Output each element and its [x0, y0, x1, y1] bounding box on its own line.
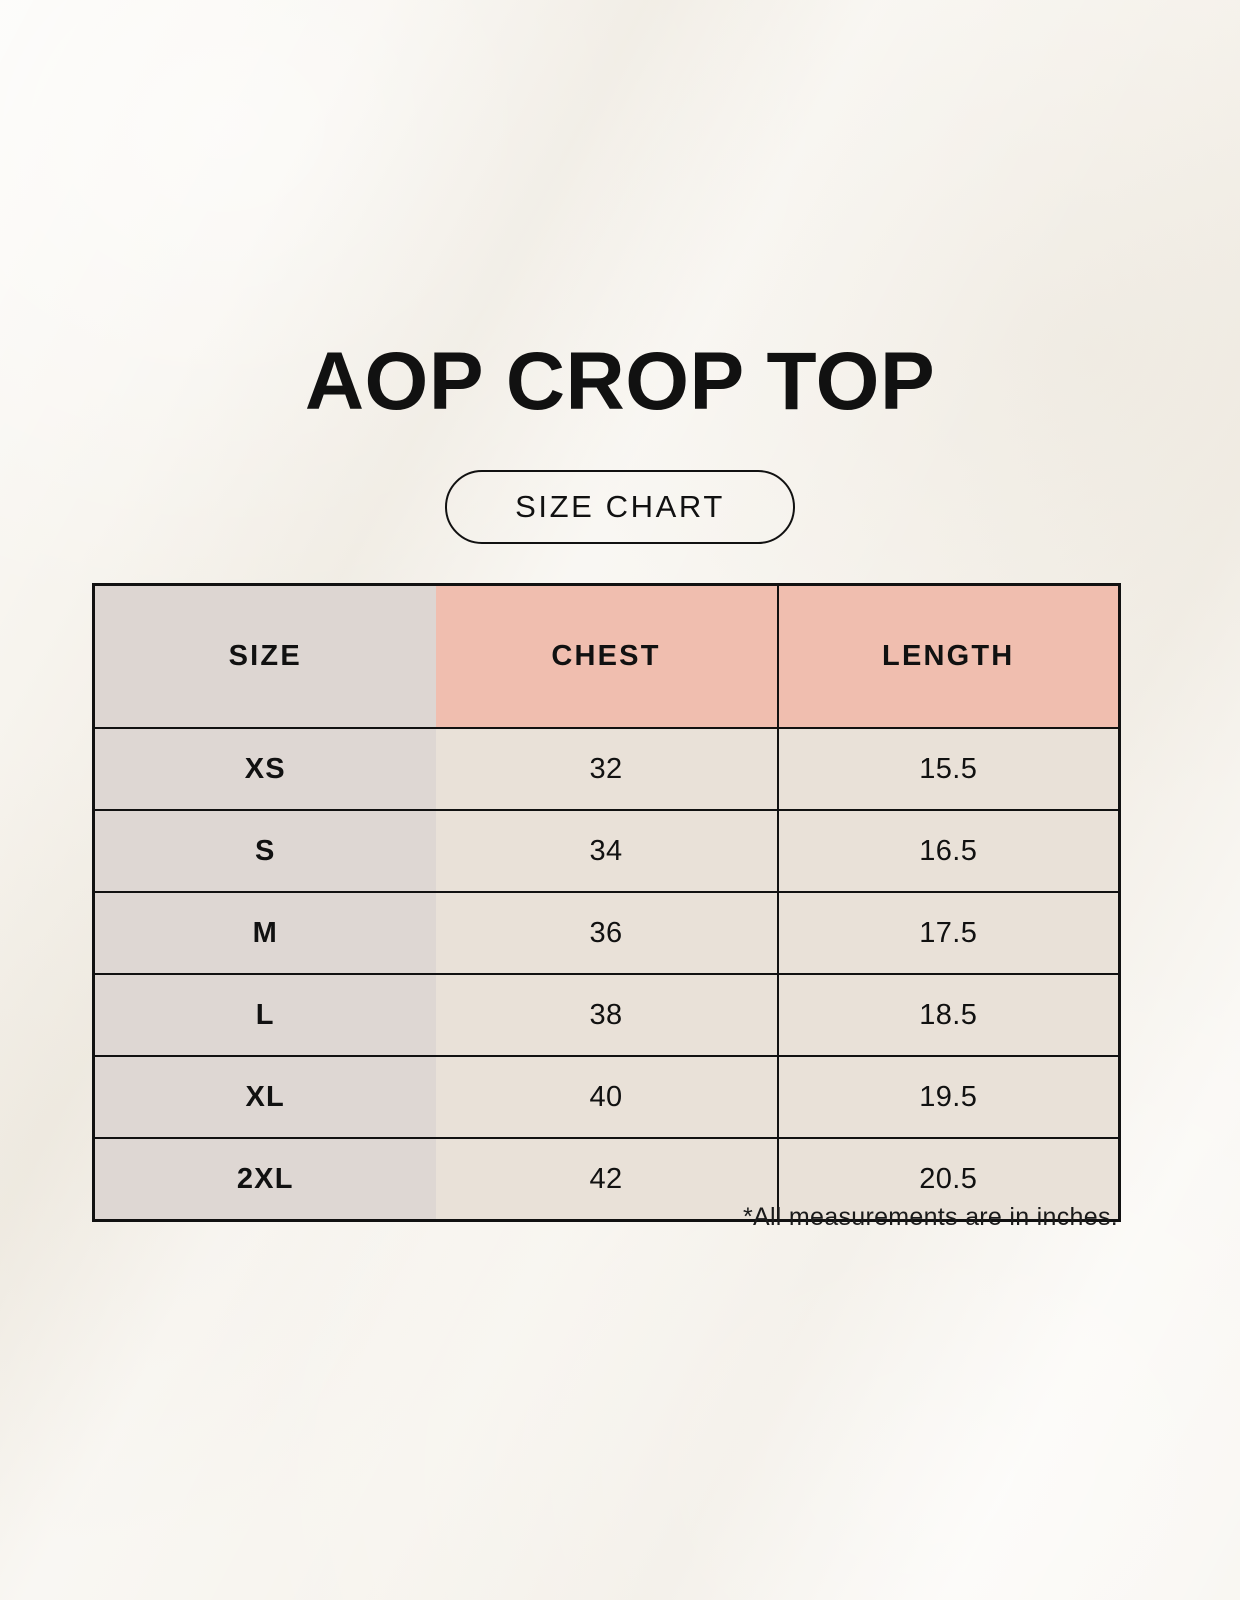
cell-length: 17.5 [778, 892, 1120, 974]
cell-size: XS [94, 728, 436, 810]
column-header-size: SIZE [94, 585, 436, 729]
cell-length: 15.5 [778, 728, 1120, 810]
cell-size: S [94, 810, 436, 892]
column-header-chest: CHEST [436, 585, 778, 729]
page-title: AOP CROP TOP [0, 334, 1240, 430]
cell-size: M [94, 892, 436, 974]
table-row: M 36 17.5 [94, 892, 1120, 974]
cell-size: L [94, 974, 436, 1056]
cell-length: 18.5 [778, 974, 1120, 1056]
size-chart-page: AOP CROP TOP SIZE CHART SIZE CHEST LENGT… [0, 0, 1240, 1600]
column-header-length: LENGTH [778, 585, 1120, 729]
cell-chest: 38 [436, 974, 778, 1056]
cell-length: 19.5 [778, 1056, 1120, 1138]
table-row: L 38 18.5 [94, 974, 1120, 1056]
cell-chest: 36 [436, 892, 778, 974]
size-chart-table: SIZE CHEST LENGTH XS 32 15.5 S 34 16.5 M… [92, 583, 1121, 1222]
cell-length: 16.5 [778, 810, 1120, 892]
measurement-units-footnote: *All measurements are in inches. [92, 1203, 1118, 1232]
cell-chest: 34 [436, 810, 778, 892]
table-row: S 34 16.5 [94, 810, 1120, 892]
size-chart-badge: SIZE CHART [445, 470, 795, 544]
table-row: XS 32 15.5 [94, 728, 1120, 810]
cell-chest: 40 [436, 1056, 778, 1138]
table-row: XL 40 19.5 [94, 1056, 1120, 1138]
cell-chest: 32 [436, 728, 778, 810]
table-header-row: SIZE CHEST LENGTH [94, 585, 1120, 729]
badge-container: SIZE CHART [0, 470, 1240, 544]
cell-size: XL [94, 1056, 436, 1138]
